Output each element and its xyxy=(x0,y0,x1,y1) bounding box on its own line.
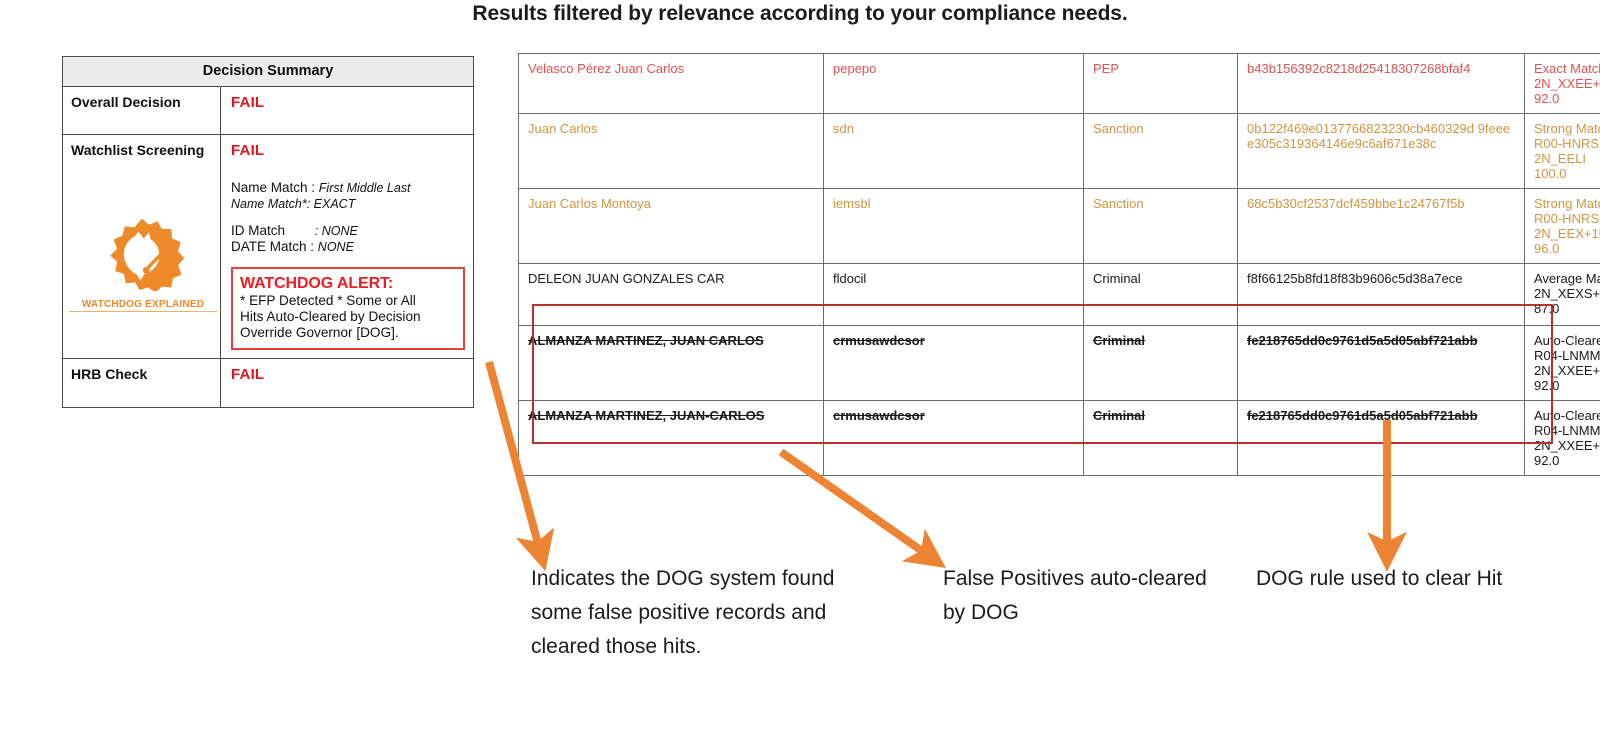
table-row[interactable]: Velasco Pérez Juan CarlospepepoPEPb43b15… xyxy=(519,54,1600,114)
cell-match-result: Average Match2N_XEXS+2LI87.0 xyxy=(1525,264,1600,326)
status-badge: FAIL xyxy=(231,94,264,111)
cell-source: crmusawdcsor xyxy=(824,401,1084,476)
hrb-check-label: HRB Check xyxy=(63,359,221,407)
decision-summary-title: Decision Summary xyxy=(63,57,473,87)
watchlist-screening-label-cell: Watchlist Screening WATCHDOG EXPLAINED xyxy=(63,135,221,358)
table-row: Overall Decision FAIL xyxy=(63,87,473,135)
match-line: 92.0 xyxy=(1534,453,1600,468)
cell-hash: 68c5b30cf2537dcf459bbe1c24767f5b xyxy=(1238,189,1525,264)
match-line: Exact Match xyxy=(1534,61,1600,76)
annotation-caption-3: DOG rule used to clear Hit xyxy=(1256,562,1556,596)
decision-summary-panel: Decision Summary Overall Decision FAIL W… xyxy=(62,56,474,408)
match-line: 100.0 xyxy=(1534,166,1600,181)
match-line: 87.0 xyxy=(1534,301,1600,316)
match-line: 92.0 xyxy=(1534,91,1600,106)
match-line: 96.0 xyxy=(1534,241,1600,256)
cell-hash: f8f66125b8fd18f83b9606c5d38a7ece xyxy=(1238,264,1525,326)
cell-match-result: Auto-ClearedR04-LNMM2N_XXEE+2LO92.0 xyxy=(1525,401,1600,476)
match-line: 2N_EELI xyxy=(1534,151,1600,166)
cell-type: Sanction xyxy=(1084,114,1238,189)
table-row: Watchlist Screening WATCHDOG EXPLAINED F… xyxy=(63,135,473,359)
match-details-list: Name Match : First Middle Last Name Matc… xyxy=(231,180,465,255)
cell-type: Sanction xyxy=(1084,189,1238,264)
cell-hash: 0b122f469e0137766823230cb460329d 9feeee3… xyxy=(1238,114,1525,189)
annotation-caption-1: Indicates the DOG system found some fals… xyxy=(531,562,861,664)
status-badge: FAIL xyxy=(231,142,264,159)
cell-hash: fe218765dd0c9761d5a5d05abf721abb xyxy=(1238,326,1525,401)
match-line: 2N_XEXS+2LI xyxy=(1534,286,1600,301)
overall-decision-value: FAIL xyxy=(221,87,473,134)
cell-match-result: Auto-ClearedR04-LNMM2N_XXEE+2LO92.0 xyxy=(1525,326,1600,401)
table-row[interactable]: ALMANZA MARTINEZ, JUAN-CARLOScrmusawdcso… xyxy=(519,401,1600,476)
cell-type: Criminal xyxy=(1084,264,1238,326)
table-row[interactable]: ALMANZA MARTINEZ, JUAN CARLOScrmusawdcso… xyxy=(519,326,1600,401)
cell-hash: b43b156392c8218d25418307268bfaf4 xyxy=(1238,54,1525,114)
cell-match-result: Strong MatchR00-HNRS2N_EELI100.0 xyxy=(1525,114,1600,189)
date-match-label: DATE Match : xyxy=(231,239,314,254)
watchdog-alert-line-2: Hits Auto-Cleared by Decision xyxy=(240,309,456,325)
cell-type: Criminal xyxy=(1084,401,1238,476)
name-match-row: Name Match : First Middle Last xyxy=(231,180,465,196)
match-line: Auto-Cleared xyxy=(1534,408,1600,423)
cell-type: Criminal xyxy=(1084,326,1238,401)
watchdog-alert-title: WATCHDOG ALERT: xyxy=(240,274,456,293)
cell-name: DELEON JUAN GONZALES CAR xyxy=(519,264,824,326)
cell-name: Juan Carlos Montoya xyxy=(519,189,824,264)
cell-match-result: Strong MatchR00-HNRS2N_EEX+1LO96.0 xyxy=(1525,189,1600,264)
match-line: 92.0 xyxy=(1534,378,1600,393)
id-match-row: ID Match : NONE xyxy=(231,223,465,239)
date-match-row: DATE Match : NONE xyxy=(231,239,465,255)
cell-source: iemsbl xyxy=(824,189,1084,264)
match-line: 2N_XXEE+2LO xyxy=(1534,363,1600,378)
match-line: 2N_EEX+1LO xyxy=(1534,226,1600,241)
cell-hash: fe218765dd0c9761d5a5d05abf721abb xyxy=(1238,401,1525,476)
hrb-check-value: FAIL xyxy=(221,359,473,407)
match-line: Auto-Cleared xyxy=(1534,333,1600,348)
match-line: Average Match xyxy=(1534,271,1600,286)
status-badge: FAIL xyxy=(231,366,264,383)
watchdog-alert-box: WATCHDOG ALERT: * EFP Detected * Some or… xyxy=(231,267,465,350)
cell-name: ALMANZA MARTINEZ, JUAN-CARLOS xyxy=(519,401,824,476)
watchlist-screening-value-cell: FAIL Name Match : First Middle Last Name… xyxy=(221,135,473,358)
cell-name: Juan Carlos xyxy=(519,114,824,189)
match-line: 2N_XXEE+2LI xyxy=(1534,76,1600,91)
table-row[interactable]: Juan Carlos MontoyaiemsblSanction68c5b30… xyxy=(519,189,1600,264)
match-line: Strong Match xyxy=(1534,121,1600,136)
name-match-value: First Middle Last xyxy=(319,181,411,195)
match-line: R04-LNMM xyxy=(1534,348,1600,363)
watchdog-alert-line-1: * EFP Detected * Some or All xyxy=(240,293,456,309)
name-match-value-2: Name Match*: EXACT xyxy=(231,197,355,211)
match-line: 2N_XXEE+2LO xyxy=(1534,438,1600,453)
watchdog-alert-line-3: Override Governor [DOG]. xyxy=(240,325,456,341)
cell-name: Velasco Pérez Juan Carlos xyxy=(519,54,824,114)
name-match-row-2: Name Match*: EXACT xyxy=(231,196,465,212)
watchlist-screening-label: Watchlist Screening xyxy=(63,135,220,158)
page-title: Results filtered by relevance according … xyxy=(0,2,1600,26)
table-row[interactable]: DELEON JUAN GONZALES CARfldocilCriminalf… xyxy=(519,264,1600,326)
match-line: R00-HNRS xyxy=(1534,136,1600,151)
overall-decision-label: Overall Decision xyxy=(63,87,221,134)
cell-match-result: Exact Match2N_XXEE+2LI92.0 xyxy=(1525,54,1600,114)
cell-source: fldocil xyxy=(824,264,1084,326)
annotation-caption-2: False Positives auto-cleared by DOG xyxy=(943,562,1213,630)
results-table: Velasco Pérez Juan CarlospepepoPEPb43b15… xyxy=(518,53,1600,476)
match-line: Strong Match xyxy=(1534,196,1600,211)
spacer xyxy=(231,212,465,223)
match-line: R00-HNRS xyxy=(1534,211,1600,226)
cell-source: crmusawdcsor xyxy=(824,326,1084,401)
cell-source: sdn xyxy=(824,114,1084,189)
id-match-label: ID Match xyxy=(231,223,285,238)
cell-type: PEP xyxy=(1084,54,1238,114)
cell-name: ALMANZA MARTINEZ, JUAN CARLOS xyxy=(519,326,824,401)
name-match-label: Name Match : xyxy=(231,180,315,195)
table-row[interactable]: Juan CarlossdnSanction0b122f469e01377668… xyxy=(519,114,1600,189)
watchdog-explained-link[interactable]: WATCHDOG EXPLAINED xyxy=(69,299,217,312)
table-row: HRB Check FAIL xyxy=(63,359,473,407)
date-match-value: NONE xyxy=(318,240,354,254)
id-match-value: : NONE xyxy=(315,224,358,238)
match-line: R04-LNMM xyxy=(1534,423,1600,438)
watchdog-gear-dog-icon[interactable] xyxy=(99,217,185,291)
cell-source: pepepo xyxy=(824,54,1084,114)
